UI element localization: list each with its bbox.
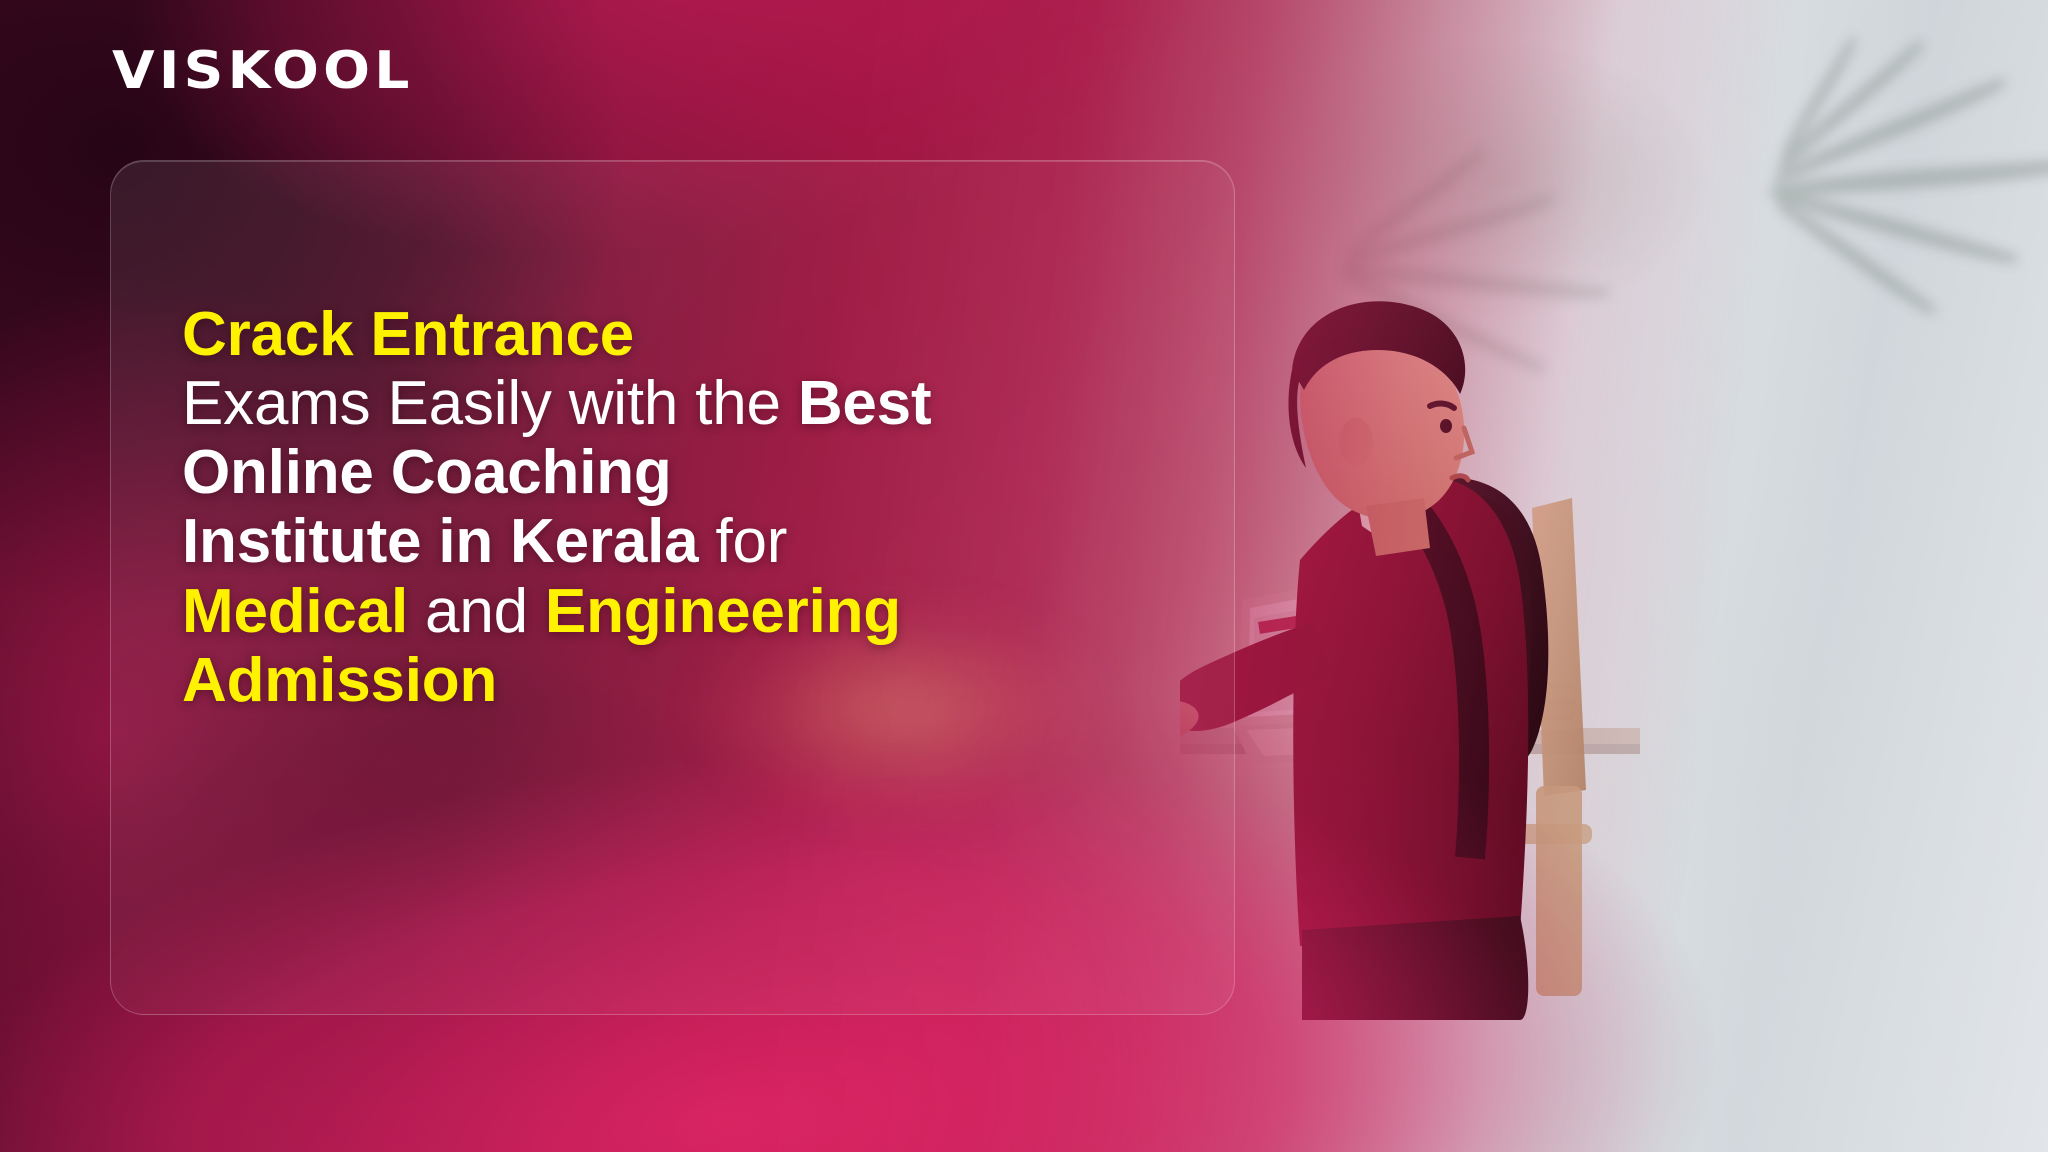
headline-segment-5-1: Medical [182, 577, 408, 646]
headline-line-3: Online Coaching [182, 438, 1182, 507]
headline-segment-1-1: Crack Entrance [182, 300, 634, 369]
headline-segment-4-1: Institute in Kerala [182, 507, 698, 576]
page-title: Crack EntranceExams Easily with the Best… [182, 300, 1182, 715]
hero-banner: VISKOOL Crack EntranceExams Easily with … [0, 0, 2048, 1152]
headline-segment-4-2: for [698, 507, 787, 576]
headline-segment-3-1: Online Coaching [182, 438, 672, 507]
headline-segment-5-3: Engineering [545, 577, 901, 646]
headline-segment-5-2: and [408, 577, 545, 646]
headline-line-1: Crack Entrance [182, 300, 1182, 369]
headline-line-5: Medical and Engineering [182, 577, 1182, 646]
headline-segment-6-1: Admission [182, 646, 497, 715]
headline-line-6: Admission [182, 646, 1182, 715]
headline-segment-2-2: Best [798, 369, 932, 438]
headline-line-4: Institute in Kerala for [182, 507, 1182, 576]
headline-line-2: Exams Easily with the Best [182, 369, 1182, 438]
headline-segment-2-1: Exams Easily with the [182, 369, 798, 438]
viskool-wordmark-icon[interactable]: VISKOOL [112, 45, 414, 97]
